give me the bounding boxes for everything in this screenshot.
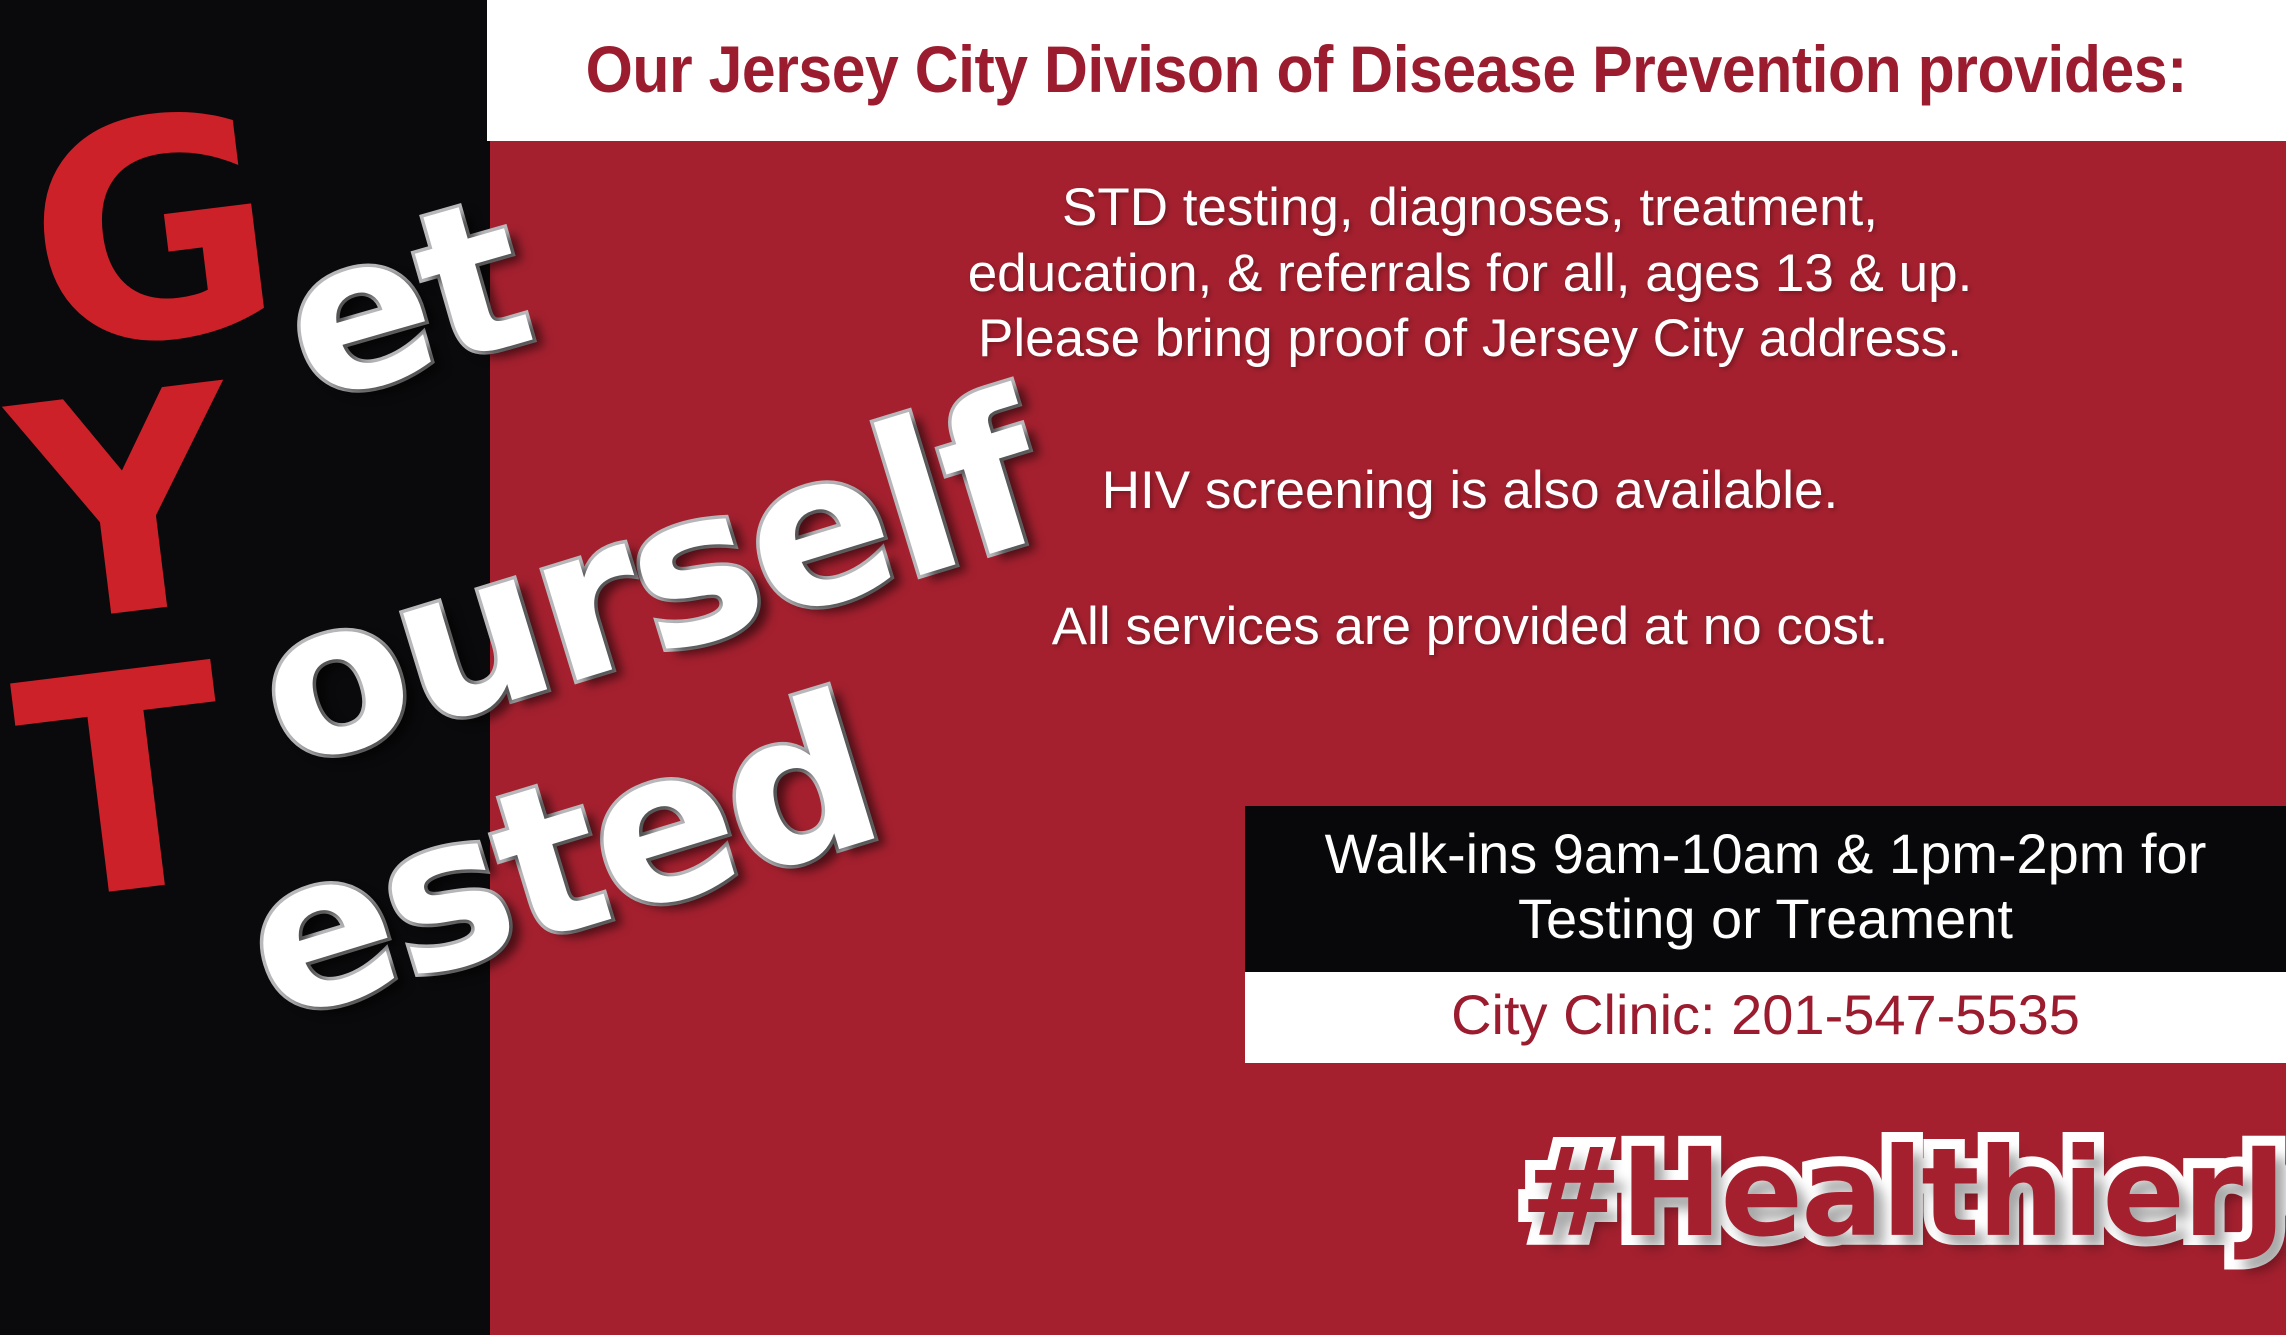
- clinic-phone-text: City Clinic: 201-547-5535: [1263, 984, 2268, 1047]
- no-cost-line: All services are provided at no cost.: [770, 594, 2170, 660]
- clinic-phone-panel: City Clinic: 201-547-5535: [1245, 972, 2286, 1063]
- services-line-3: Please bring proof of Jersey City addres…: [770, 306, 2170, 372]
- left-black-panel: [0, 0, 490, 1335]
- paragraph-spacer-1: [770, 372, 2170, 458]
- body-copy: STD testing, diagnoses, treatment, educa…: [770, 175, 2170, 660]
- walk-in-hours-panel: Walk-ins 9am-10am & 1pm-2pm for Testing …: [1245, 806, 2286, 972]
- header-strip: Our Jersey City Divison of Disease Preve…: [487, 0, 2286, 141]
- paragraph-spacer-2: [770, 524, 2170, 594]
- hiv-screening-line: HIV screening is also available.: [770, 458, 2170, 524]
- walk-in-hours-line-2: Testing or Treament: [1263, 887, 2268, 952]
- walk-in-info-box: Walk-ins 9am-10am & 1pm-2pm for Testing …: [1245, 806, 2286, 1063]
- campaign-hashtag: #HealthierJC: [1520, 1122, 2286, 1264]
- walk-in-hours-line-1: Walk-ins 9am-10am & 1pm-2pm for: [1263, 822, 2268, 887]
- header-title: Our Jersey City Divison of Disease Preve…: [586, 36, 2187, 106]
- poster-canvas: Our Jersey City Divison of Disease Preve…: [0, 0, 2286, 1335]
- services-line-2: education, & referrals for all, ages 13 …: [770, 241, 2170, 307]
- services-line-1: STD testing, diagnoses, treatment,: [770, 175, 2170, 241]
